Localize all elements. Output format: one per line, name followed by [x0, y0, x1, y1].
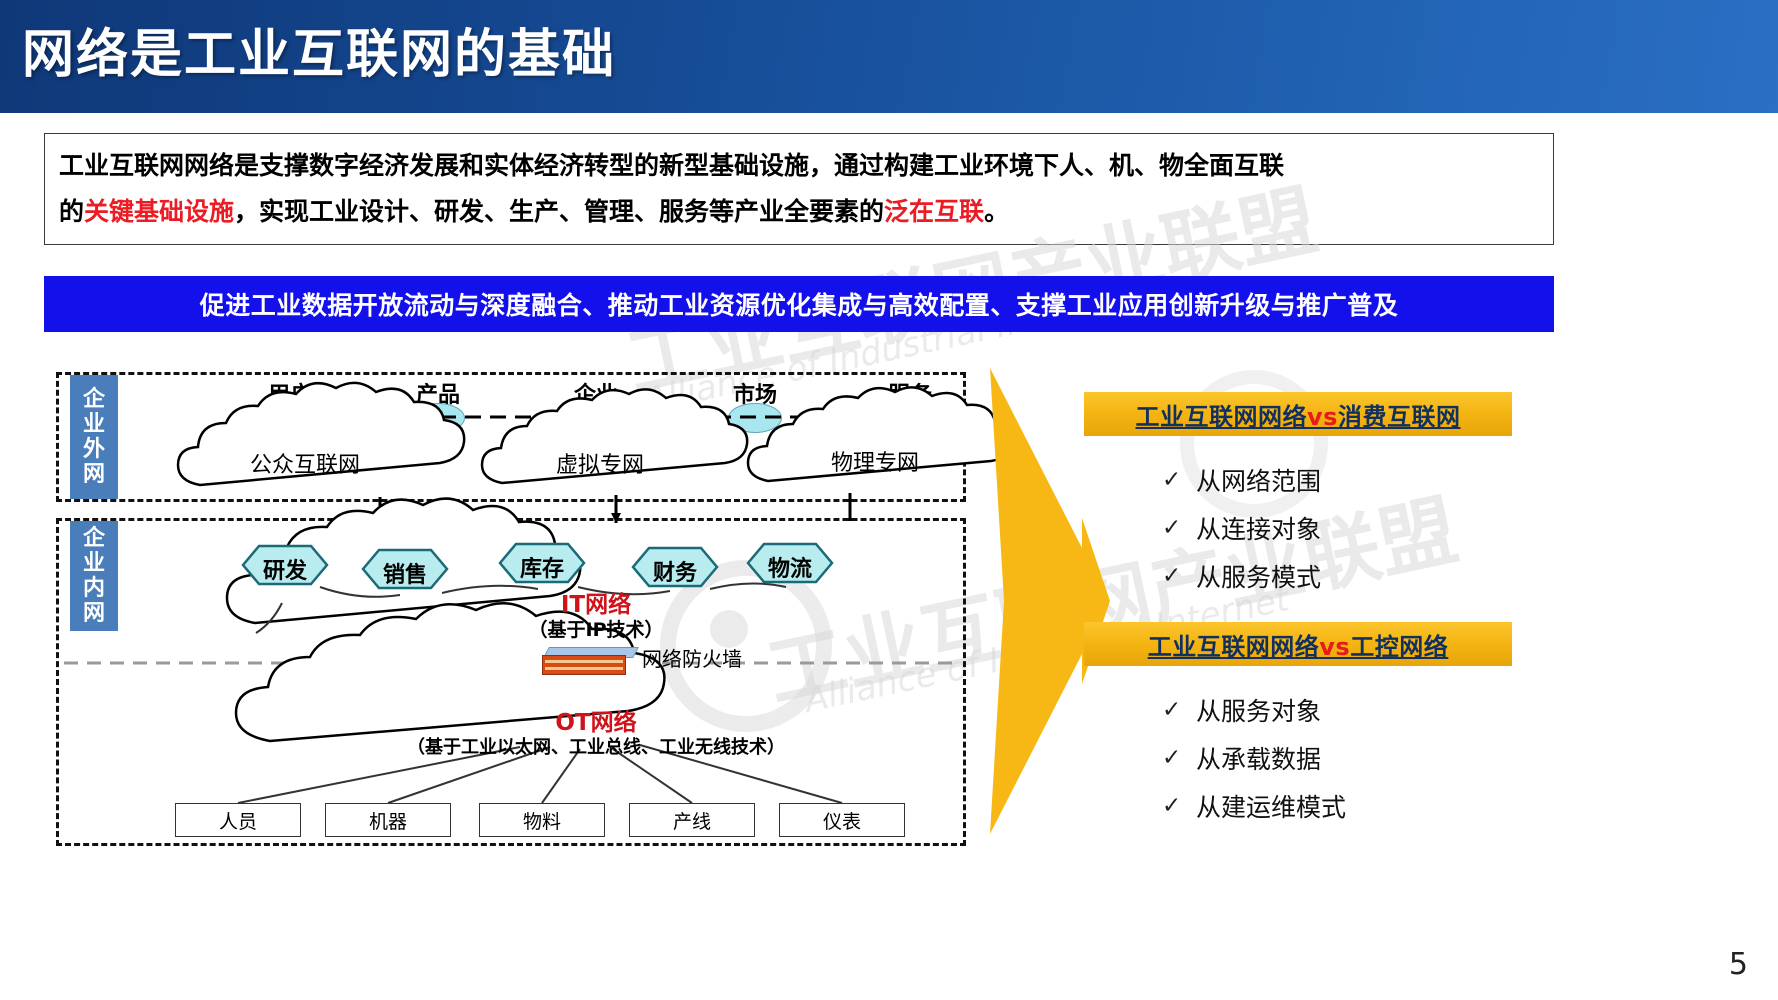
device-box-production-line: 产线	[629, 803, 755, 837]
page-title: 网络是工业互联网的基础	[22, 24, 616, 86]
firewall-icon-body	[542, 655, 626, 675]
summary-highlight-2: 泛在互联	[884, 197, 984, 226]
page-number: 5	[1729, 947, 1748, 982]
check-icon: ✓	[1162, 745, 1196, 771]
list-item[interactable]: ✓ 从连接对象	[1084, 504, 1512, 552]
summary-text-box: 工业互联网网络是支撑数字经济发展和实体经济转型的新型基础设施，通过构建工业环境下…	[44, 133, 1554, 245]
comparison-heading-2-text: 工业互联网网络vs工控网络	[1148, 627, 1448, 662]
list-item[interactable]: ✓ 从服务模式	[1084, 552, 1512, 600]
slide-title-bar: 网络是工业互联网的基础	[0, 0, 1778, 113]
device-box-personnel: 人员	[175, 803, 301, 837]
check-icon: ✓	[1162, 697, 1196, 723]
it-network-label: IT网络 （基于IP技术）	[529, 592, 664, 642]
firewall-icon	[542, 647, 634, 673]
list-item[interactable]: ✓ 从网络范围	[1084, 456, 1512, 504]
list-item[interactable]: ✓ 从服务对象	[1084, 686, 1512, 734]
heading-2-right: 工控网络	[1350, 633, 1448, 661]
cloud-label-physical-private: 物理专网	[831, 445, 919, 477]
check-icon: ✓	[1162, 467, 1196, 493]
list-item-label: 从建运维模式	[1196, 788, 1346, 824]
list-item[interactable]: ✓ 从建运维模式	[1084, 782, 1512, 830]
comparison-panel: 工业互联网网络vs消费互联网 ✓ 从网络范围 ✓ 从连接对象 ✓ 从服务模式 工…	[1084, 392, 1512, 830]
heading-2-left: 工业互联网网络	[1148, 633, 1320, 661]
key-message-text: 促进工业数据开放流动与深度融合、推动工业资源优化集成与高效配置、支撑工业应用创新…	[200, 286, 1399, 322]
hex-label-sales: 销售	[383, 557, 427, 589]
summary-line-2-part-b: ，实现工业设计、研发、生产、管理、服务等产业全要素的	[234, 197, 884, 226]
list-item-label: 从服务对象	[1196, 692, 1321, 728]
comparison-list-1: ✓ 从网络范围 ✓ 从连接对象 ✓ 从服务模式	[1084, 456, 1512, 600]
list-item-label: 从网络范围	[1196, 462, 1321, 498]
summary-line-2-part-c: 。	[984, 197, 1009, 226]
heading-1-left: 工业互联网网络	[1136, 403, 1308, 431]
hex-label-rd: 研发	[263, 553, 307, 585]
list-item[interactable]: ✓ 从承载数据	[1084, 734, 1512, 782]
check-icon: ✓	[1162, 793, 1196, 819]
it-network-subtitle: （基于IP技术）	[529, 618, 664, 642]
summary-highlight-1: 关键基础设施	[84, 197, 234, 226]
device-box-instrument: 仪表	[779, 803, 905, 837]
heading-1-right: 消费互联网	[1338, 403, 1461, 431]
heading-1-vs: vs	[1307, 403, 1338, 431]
heading-2-vs: vs	[1319, 633, 1350, 661]
hex-label-inventory: 库存	[520, 551, 564, 583]
summary-line-2-part-a: 的	[59, 197, 84, 226]
list-item-label: 从服务模式	[1196, 558, 1321, 594]
summary-line-2: 的关键基础设施，实现工业设计、研发、生产、管理、服务等产业全要素的泛在互联。	[59, 197, 1009, 227]
hex-label-finance: 财务	[653, 555, 697, 587]
firewall-label: 网络防火墙	[642, 643, 742, 672]
ot-network-subtitle: （基于工业以太网、工业总线、工业无线技术）	[407, 736, 785, 760]
key-message-banner: 促进工业数据开放流动与深度融合、推动工业资源优化集成与高效配置、支撑工业应用创新…	[44, 276, 1554, 332]
check-icon: ✓	[1162, 563, 1196, 589]
panel-spacer	[1084, 600, 1512, 622]
network-architecture-diagram: 企 业 外 网 企 业 内 网 用户 产品 企业 市场 服务	[50, 355, 1070, 865]
it-network-title: IT网络	[529, 592, 664, 618]
comparison-list-2: ✓ 从服务对象 ✓ 从承载数据 ✓ 从建运维模式	[1084, 686, 1512, 830]
comparison-heading-1-text: 工业互联网网络vs消费互联网	[1136, 397, 1461, 432]
check-icon: ✓	[1162, 515, 1196, 541]
device-box-machine: 机器	[325, 803, 451, 837]
cloud-label-public-internet: 公众互联网	[250, 447, 360, 479]
list-item-label: 从连接对象	[1196, 510, 1321, 546]
list-item-label: 从承载数据	[1196, 740, 1321, 776]
device-box-material: 物料	[479, 803, 605, 837]
cloud-label-virtual-private: 虚拟专网	[556, 447, 644, 479]
summary-line-1: 工业互联网网络是支撑数字经济发展和实体经济转型的新型基础设施，通过构建工业环境下…	[59, 151, 1284, 181]
ot-network-label: OT网络 （基于工业以太网、工业总线、工业无线技术）	[407, 710, 785, 760]
ot-network-title: OT网络	[407, 710, 785, 736]
comparison-heading-2[interactable]: 工业互联网网络vs工控网络	[1084, 622, 1512, 666]
comparison-heading-1[interactable]: 工业互联网网络vs消费互联网	[1084, 392, 1512, 436]
hex-label-logistics: 物流	[768, 551, 812, 583]
